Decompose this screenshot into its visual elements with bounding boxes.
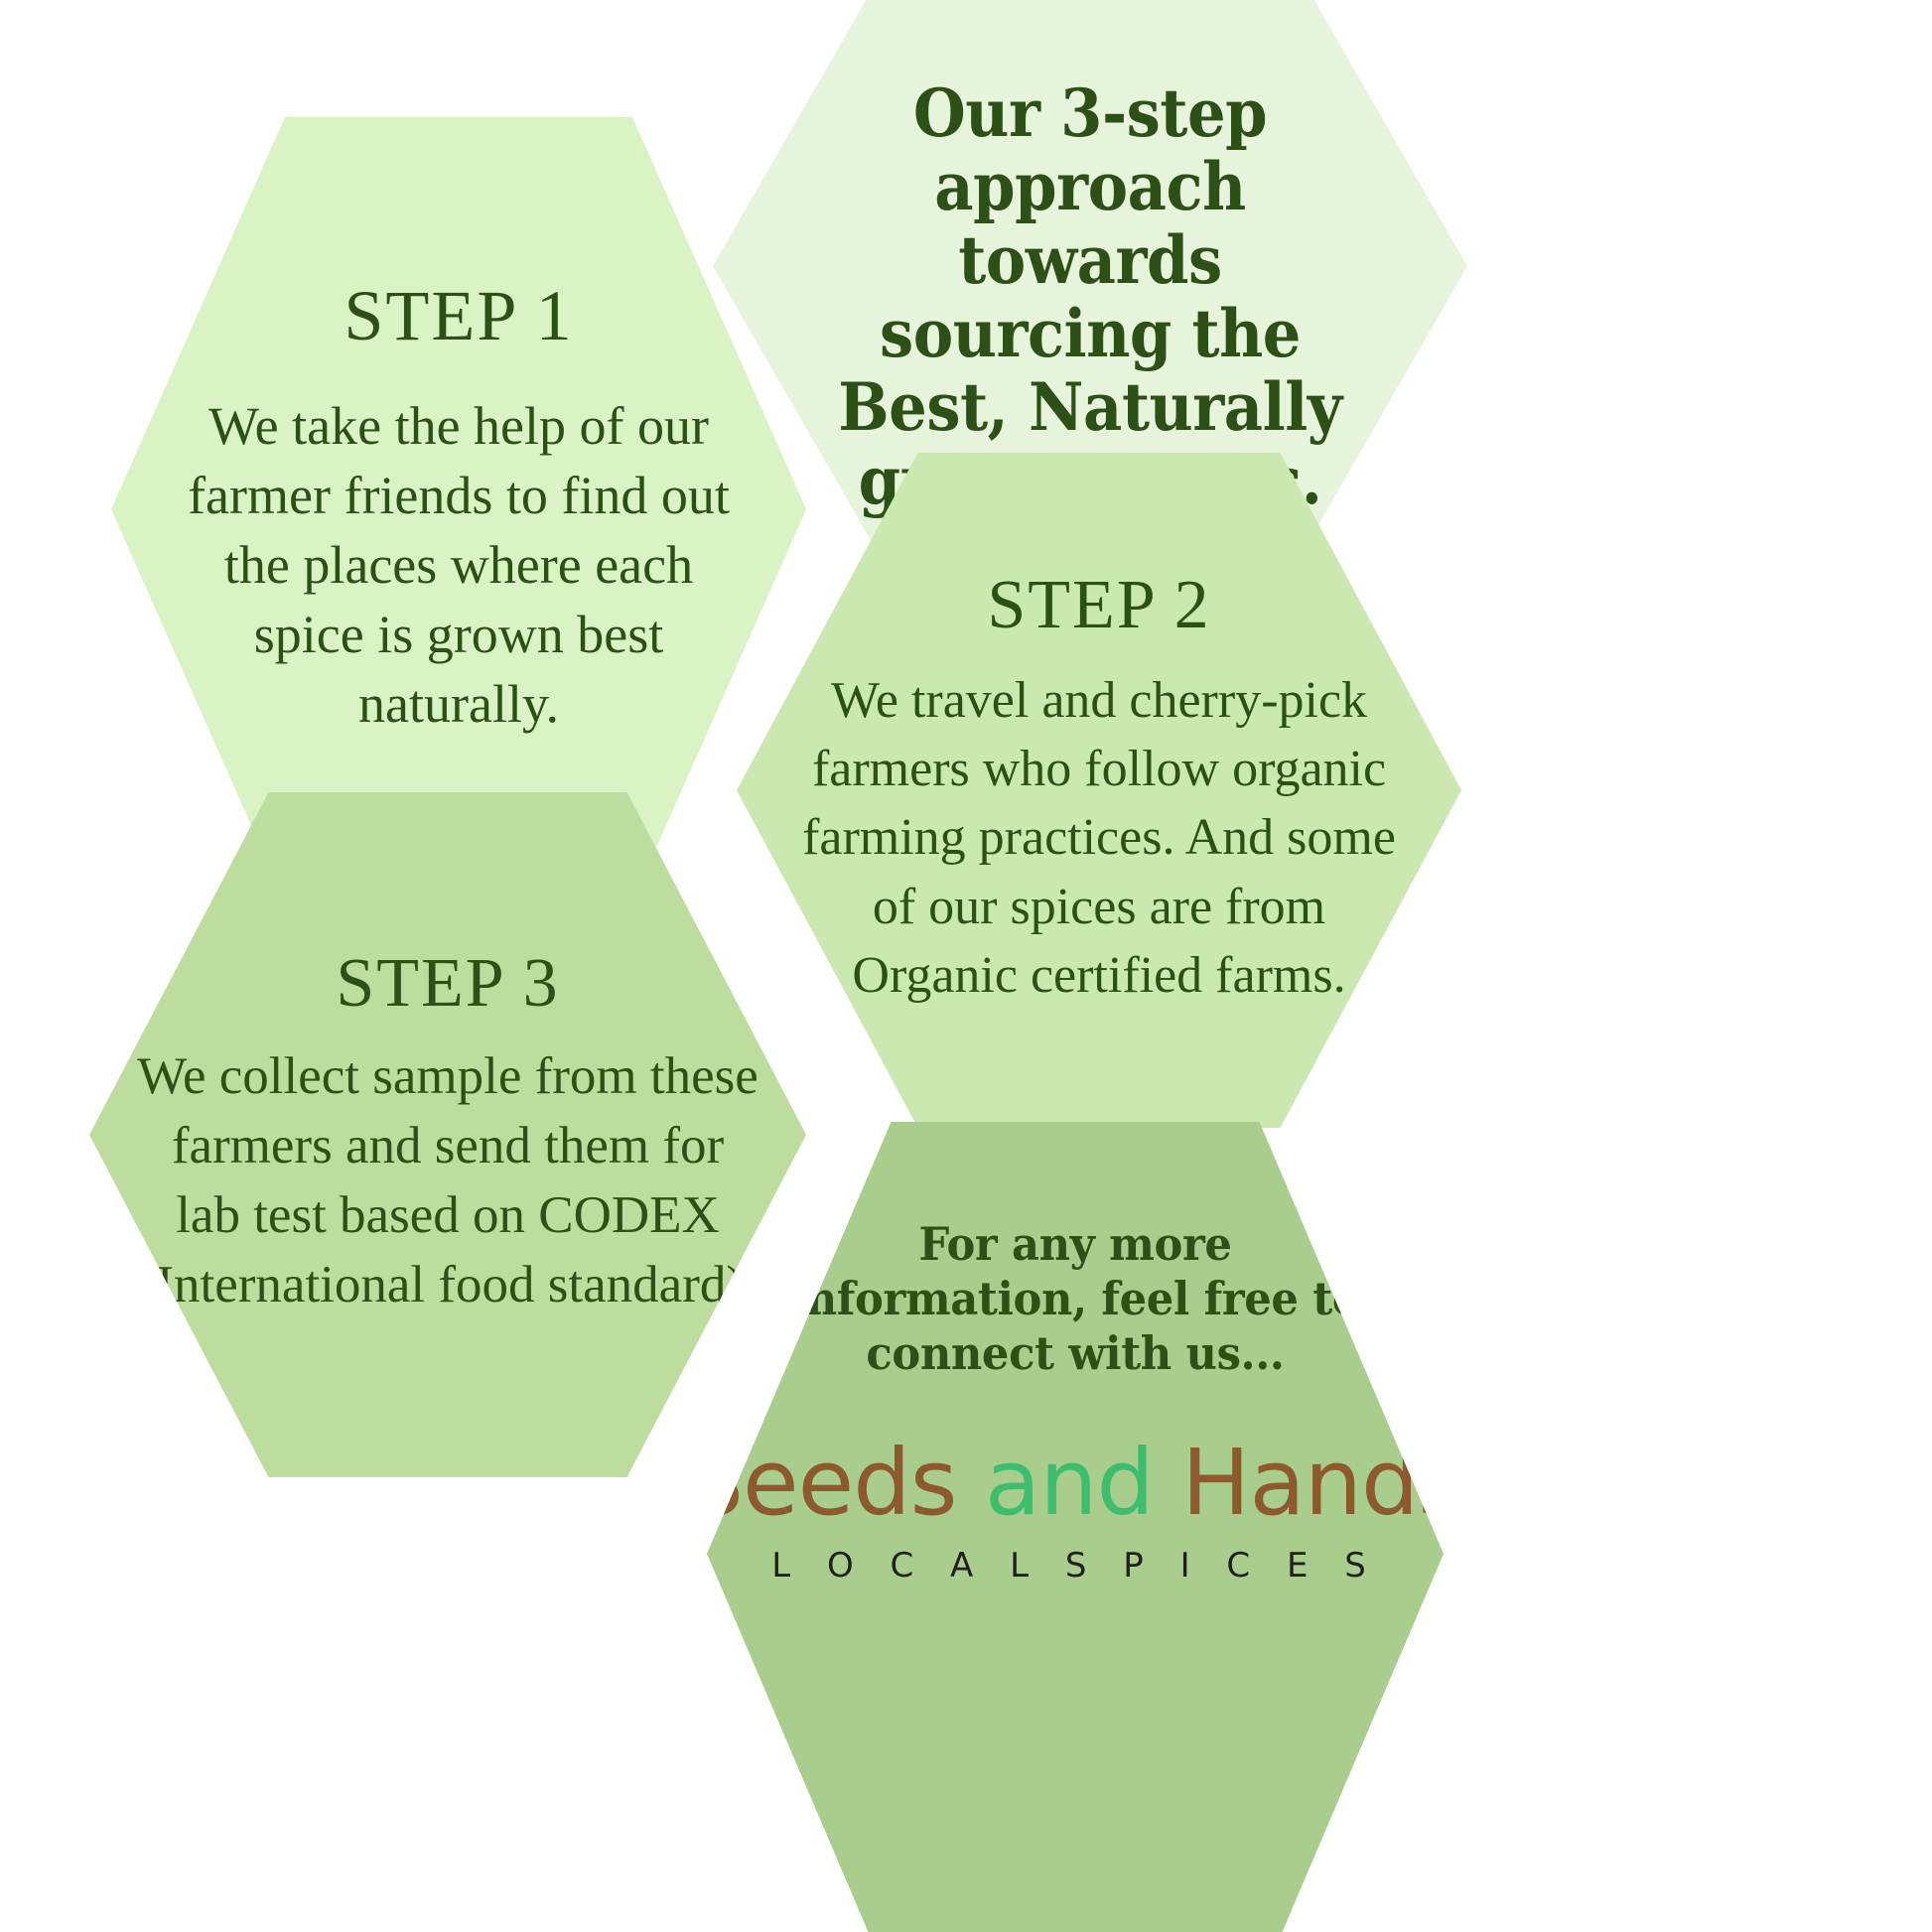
brand-tagline: L O C A L S P I C E S xyxy=(771,1549,1379,1583)
hexagon-step-2: STEP 2 We travel and cherry-pick farmers… xyxy=(737,453,1461,1128)
step-2-body: We travel and cherry-pick farmers who fo… xyxy=(784,666,1414,1010)
step-2-label: STEP 2 xyxy=(987,571,1210,640)
brand-word-seeds: Seeds xyxy=(686,1430,957,1536)
brand-word-hands: Hands xyxy=(1181,1430,1464,1536)
hexagon-step-1: STEP 1 We take the help of our farmer fr… xyxy=(111,117,806,901)
step-1-body: We take the help of our farmer friends t… xyxy=(173,391,745,740)
step-1-label: STEP 1 xyxy=(344,280,573,351)
infographic-canvas: STEP 1 We take the help of our farmer fr… xyxy=(0,0,1932,1932)
contact-message: For any more information, feel free to c… xyxy=(785,1217,1366,1382)
brand-logo: Seeds and Hands L O C A L S P I C E S xyxy=(686,1438,1465,1583)
page-title: Our 3-step approach towards sourcing the… xyxy=(814,77,1366,517)
brand-logo-wordmark: Seeds and Hands xyxy=(686,1438,1465,1529)
hexagon-step-3: STEP 3 We collect sample from these farm… xyxy=(89,792,806,1477)
hexagon-contact: For any more information, feel free to c… xyxy=(707,1122,1444,1932)
step-3-body: We collect sample from these farmers and… xyxy=(135,1042,760,1320)
brand-word-and: and xyxy=(985,1430,1154,1536)
step-3-label: STEP 3 xyxy=(336,949,559,1019)
